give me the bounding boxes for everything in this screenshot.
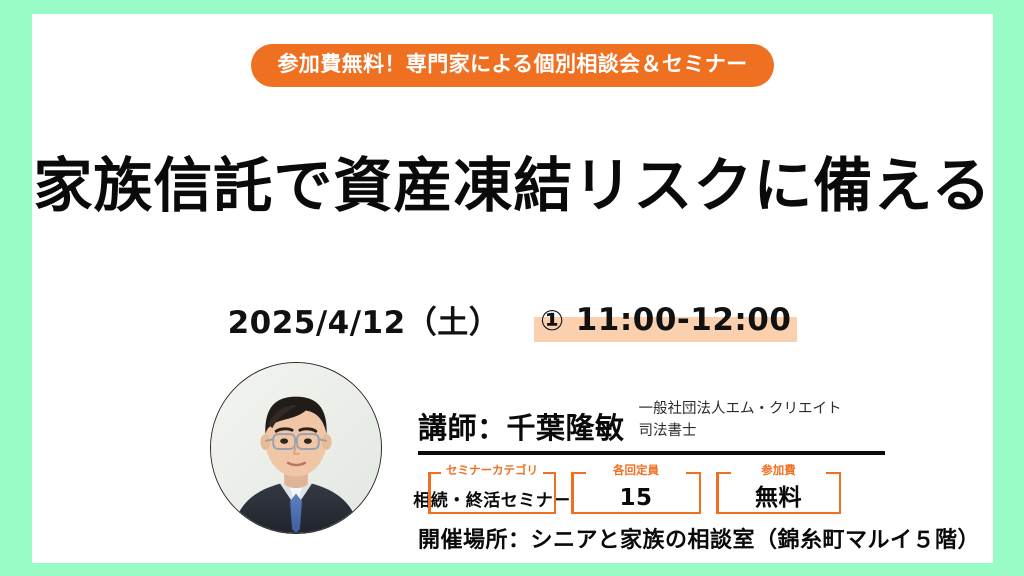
seminar-date: 2025/4/12（土） [228, 297, 501, 342]
info-box-fee: 参加費 無料 [716, 472, 841, 514]
info-box-value: 無料 [755, 487, 802, 510]
edge-right [839, 472, 842, 514]
info-box-category: セミナーカテゴリ 相続・終活セミナー [428, 472, 556, 514]
seminar-poster: 参加費無料！専門家による個別相談会＆セミナー 家族信託で資産凍結リスクに備える … [0, 0, 1024, 576]
info-box-label: セミナーカテゴリ [441, 465, 543, 477]
info-box-label: 参加費 [756, 465, 801, 477]
edge-bottom [571, 512, 701, 515]
speaker-divider [418, 451, 885, 455]
seminar-time: ① 11:00-12:00 [540, 302, 791, 338]
schedule-row: 2025/4/12（土） ① 11:00-12:00 [32, 297, 993, 342]
edge-right [699, 472, 702, 514]
free-admission-badge: 参加費無料！専門家による個別相談会＆セミナー [251, 44, 773, 87]
info-boxes: セミナーカテゴリ 相続・終活セミナー 各回定員 15 参加費 無料 [428, 472, 841, 514]
portrait-illustration [211, 363, 381, 533]
poster-panel: 参加費無料！専門家による個別相談会＆セミナー 家族信託で資産凍結リスクに備える … [32, 14, 993, 563]
title-row: 家族信託で資産凍結リスクに備える [32, 154, 993, 219]
edge-left [716, 472, 719, 514]
info-box-value: 15 [619, 487, 652, 510]
seminar-title: 家族信託で資産凍結リスクに備える [33, 154, 991, 219]
info-box-label: 各回定員 [608, 465, 664, 477]
venue-text: 開催場所：シニアと家族の相談室（錦糸町マルイ５階） [418, 528, 980, 554]
edge-bottom [716, 512, 841, 515]
info-box-capacity: 各回定員 15 [571, 472, 701, 514]
seminar-time-group: ① 11:00-12:00 [534, 302, 797, 342]
edge-bottom [428, 512, 556, 515]
affiliation-qualification: 司法書士 [639, 420, 842, 442]
speaker-block: 講師：千葉隆敏 一般社団法人エム・クリエイト 司法書士 [418, 398, 888, 445]
affiliation-organization: 一般社団法人エム・クリエイト [639, 398, 842, 420]
edge-right [554, 472, 557, 514]
edge-left [571, 472, 574, 514]
session-number-icon: ① [540, 304, 564, 337]
info-box-value: 相続・終活セミナー [413, 493, 571, 510]
speaker-name: 講師：千葉隆敏 [418, 413, 625, 445]
edge-left [428, 472, 431, 514]
speaker-portrait [210, 362, 382, 534]
speaker-affiliation: 一般社団法人エム・クリエイト 司法書士 [639, 398, 842, 445]
seminar-time-value: 11:00-12:00 [576, 302, 792, 338]
badge-row: 参加費無料！専門家による個別相談会＆セミナー [32, 44, 993, 87]
speaker-line: 講師：千葉隆敏 一般社団法人エム・クリエイト 司法書士 [418, 398, 888, 445]
